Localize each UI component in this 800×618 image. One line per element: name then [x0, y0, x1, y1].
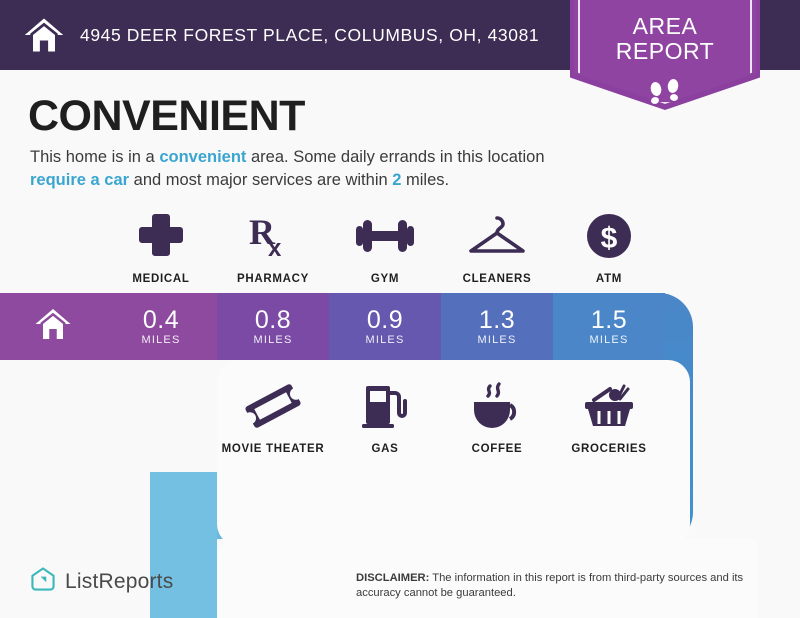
coffee-cup-icon — [468, 382, 526, 435]
distance-value-pharmacy: 0.8 — [255, 307, 291, 333]
distance-unit-gym: MILES — [365, 334, 404, 346]
distance-unit-atm: MILES — [589, 334, 628, 346]
medical-cross-icon — [136, 212, 186, 265]
service-icon-movie-theater: MOVIE THEATER — [217, 382, 329, 455]
header-address-group: 4945 DEER FOREST PLACE, COLUMBUS, OH, 43… — [22, 0, 539, 70]
service-icon-gym: GYM — [329, 212, 441, 285]
page-title: CONVENIENT — [28, 92, 305, 141]
services-icon-row-2: MOVIE THEATER GAS COFFEE — [0, 382, 800, 462]
distance-unit-cleaners: MILES — [477, 334, 516, 346]
home-icon — [22, 13, 66, 57]
grocery-basket-icon — [580, 382, 638, 435]
distance-bar-row-1: 0.4 MILES 0.8 MILES 0.9 MILES 1.3 MILES … — [0, 293, 693, 360]
badge-line-1: AREA — [570, 14, 760, 39]
service-label-movie-theater: MOVIE THEATER — [222, 443, 325, 455]
distance-cell-pharmacy: 0.8 MILES — [217, 293, 329, 360]
intro-highlight-2: require a car — [30, 171, 129, 189]
service-icon-gas: GAS — [329, 382, 441, 455]
distance-cell-atm: 1.5 MILES — [553, 293, 665, 360]
service-icon-groceries: GROCERIES — [553, 382, 665, 455]
badge-line-2: REPORT — [570, 39, 760, 64]
gas-pump-icon — [360, 382, 410, 435]
service-label-gym: GYM — [371, 273, 399, 285]
intro-text-1: This home is in a — [30, 148, 159, 166]
home-marker — [0, 293, 105, 360]
svg-text:x: x — [268, 235, 282, 260]
rx-icon: R x — [248, 212, 298, 265]
movie-ticket-icon — [242, 382, 304, 435]
distance-unit-pharmacy: MILES — [253, 334, 292, 346]
service-icon-pharmacy: R x PHARMACY — [217, 212, 329, 285]
badge-text-group: AREA REPORT — [570, 14, 760, 64]
dollar-circle-icon: $ — [584, 212, 634, 265]
listreports-logo-icon — [30, 566, 56, 597]
service-icon-atm: $ ATM — [553, 212, 665, 285]
home-icon — [33, 304, 73, 349]
listreports-logo[interactable]: ListReports — [30, 566, 173, 597]
distance-value-cleaners: 1.3 — [479, 307, 515, 333]
service-label-medical: MEDICAL — [132, 273, 189, 285]
property-address: 4945 DEER FOREST PLACE, COLUMBUS, OH, 43… — [80, 25, 539, 46]
service-label-atm: ATM — [596, 273, 622, 285]
ribbon-bottom-left-segment — [150, 472, 217, 539]
listreports-logo-text: ListReports — [65, 570, 173, 594]
intro-text-4: miles. — [401, 171, 449, 189]
service-icon-coffee: COFFEE — [441, 382, 553, 455]
area-report-infographic: 4945 DEER FOREST PLACE, COLUMBUS, OH, 43… — [0, 0, 800, 618]
service-label-coffee: COFFEE — [472, 443, 523, 455]
distance-value-gym: 0.9 — [367, 307, 403, 333]
service-label-pharmacy: PHARMACY — [237, 273, 309, 285]
services-icon-row-1: MEDICAL R x PHARMACY GYM — [0, 212, 800, 282]
service-label-gas: GAS — [371, 443, 398, 455]
service-label-cleaners: CLEANERS — [463, 273, 532, 285]
service-icon-cleaners: CLEANERS — [441, 212, 553, 285]
intro-text-2: area. Some daily errands in this locatio… — [246, 148, 544, 166]
service-icon-medical: MEDICAL — [105, 212, 217, 285]
dumbbell-icon — [354, 212, 416, 265]
intro-text-3: and most major services are within — [129, 171, 392, 189]
distance-cell-cleaners: 1.3 MILES — [441, 293, 553, 360]
distance-cell-medical: 0.4 MILES — [105, 293, 217, 360]
disclaimer: DISCLAIMER: The information in this repo… — [356, 571, 776, 600]
disclaimer-label: DISCLAIMER: — [356, 572, 429, 584]
service-label-groceries: GROCERIES — [571, 443, 646, 455]
ribbon-home-segment — [0, 293, 105, 360]
intro-paragraph: This home is in a convenient area. Some … — [30, 146, 560, 192]
distance-value-atm: 1.5 — [591, 307, 627, 333]
distance-cell-gym: 0.9 MILES — [329, 293, 441, 360]
footprints-icon — [570, 78, 760, 113]
intro-highlight-1: convenient — [159, 148, 246, 166]
svg-text:$: $ — [601, 222, 618, 255]
hanger-icon — [466, 212, 528, 265]
distance-value-medical: 0.4 — [143, 307, 179, 333]
distance-unit-medical: MILES — [141, 334, 180, 346]
